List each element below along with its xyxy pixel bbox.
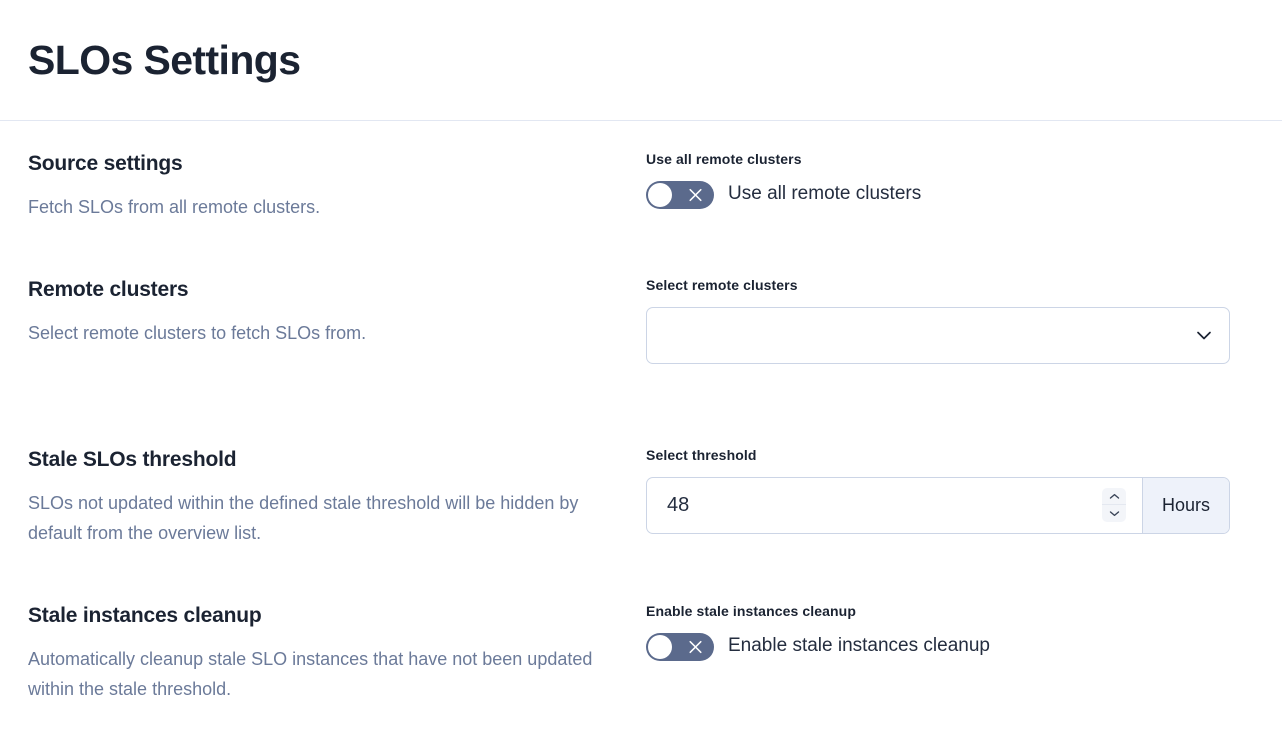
select-remote-clusters-label: Select remote clusters	[646, 277, 1254, 294]
toggle-knob	[648, 635, 672, 659]
enable-stale-instances-cleanup-toggle-text[interactable]: Enable stale instances cleanup	[728, 635, 990, 658]
stepper-up-icon[interactable]	[1102, 489, 1126, 505]
use-all-remote-clusters-toggle-row: Use all remote clusters	[646, 181, 1254, 209]
select-threshold-label: Select threshold	[646, 447, 1254, 464]
stepper-down-icon[interactable]	[1102, 505, 1126, 521]
use-all-remote-clusters-toggle[interactable]	[646, 181, 714, 209]
remote-clusters-control-column: Select remote clusters	[646, 277, 1254, 364]
close-x-icon	[688, 187, 703, 202]
source-settings-description: Fetch SLOs from all remote clusters.	[28, 192, 608, 222]
enable-stale-instances-cleanup-toggle-row: Enable stale instances cleanup	[646, 633, 1254, 661]
stale-instances-cleanup-description: Automatically cleanup stale SLO instance…	[28, 644, 608, 704]
setting-row-stale-instances-cleanup: Stale instances cleanup Automatically cl…	[28, 603, 1254, 723]
settings-body: Source settings Fetch SLOs from all remo…	[0, 121, 1282, 723]
close-x-icon	[688, 639, 703, 654]
remote-clusters-title: Remote clusters	[28, 277, 616, 302]
stale-slos-threshold-title: Stale SLOs threshold	[28, 447, 616, 472]
threshold-unit-addon: Hours	[1142, 478, 1229, 533]
threshold-input-group: Hours	[646, 477, 1230, 534]
use-all-remote-clusters-label: Use all remote clusters	[646, 151, 1254, 168]
stale-slos-threshold-description-column: Stale SLOs threshold SLOs not updated wi…	[28, 447, 646, 549]
use-all-remote-clusters-toggle-text[interactable]: Use all remote clusters	[728, 183, 921, 206]
page-header: SLOs Settings	[0, 0, 1282, 121]
threshold-number-field[interactable]	[647, 478, 1142, 533]
chevron-down-icon[interactable]	[1193, 324, 1215, 346]
stale-slos-threshold-control-column: Select threshold	[646, 447, 1254, 534]
source-settings-control-column: Use all remote clusters Use all remote c…	[646, 151, 1254, 209]
setting-row-source-settings: Source settings Fetch SLOs from all remo…	[28, 151, 1254, 277]
quantity-stepper[interactable]	[1102, 488, 1126, 522]
setting-row-remote-clusters: Remote clusters Select remote clusters t…	[28, 277, 1254, 447]
stale-instances-cleanup-title: Stale instances cleanup	[28, 603, 616, 628]
source-settings-description-column: Source settings Fetch SLOs from all remo…	[28, 151, 646, 222]
select-remote-clusters-dropdown[interactable]	[646, 307, 1230, 364]
source-settings-title: Source settings	[28, 151, 616, 176]
enable-stale-instances-cleanup-label: Enable stale instances cleanup	[646, 603, 1254, 620]
stale-slos-threshold-description: SLOs not updated within the defined stal…	[28, 488, 608, 548]
threshold-input[interactable]	[667, 494, 1102, 517]
stale-instances-cleanup-control-column: Enable stale instances cleanup Enable st…	[646, 603, 1254, 661]
remote-clusters-description: Select remote clusters to fetch SLOs fro…	[28, 318, 608, 348]
enable-stale-instances-cleanup-toggle[interactable]	[646, 633, 714, 661]
toggle-knob	[648, 183, 672, 207]
setting-row-stale-slos-threshold: Stale SLOs threshold SLOs not updated wi…	[28, 447, 1254, 603]
remote-clusters-description-column: Remote clusters Select remote clusters t…	[28, 277, 646, 348]
page-title: SLOs Settings	[28, 40, 300, 81]
stale-instances-cleanup-description-column: Stale instances cleanup Automatically cl…	[28, 603, 646, 705]
